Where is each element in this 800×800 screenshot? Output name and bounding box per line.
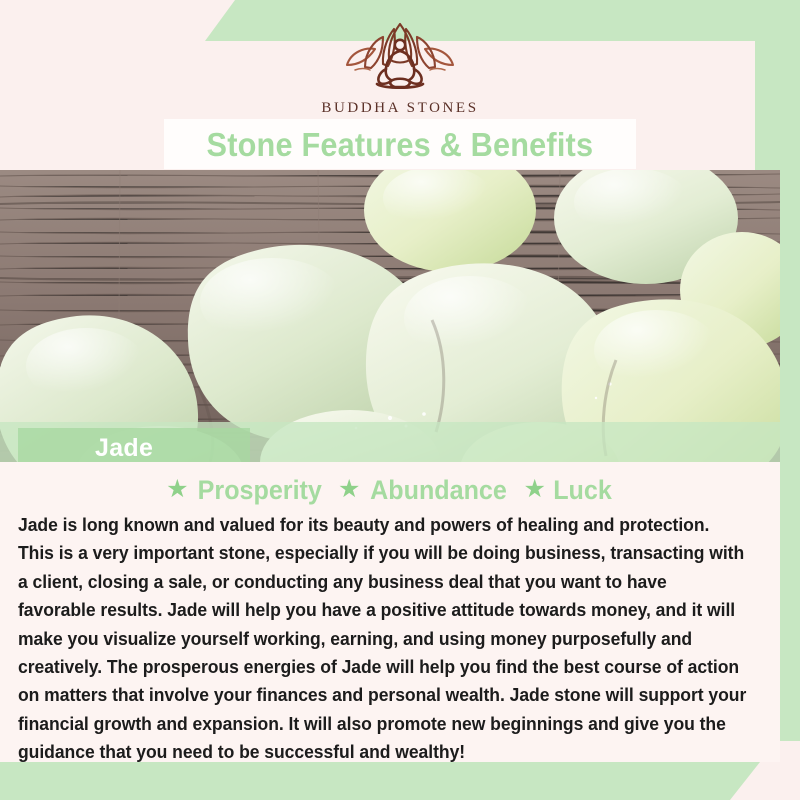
- stone-info-card: BUDDHA STONES Stone Features & Benefits: [0, 0, 800, 800]
- benefit-item-abundance: ★ Abundance: [338, 477, 512, 504]
- page-title: Stone Features & Benefits: [207, 128, 594, 161]
- decorative-ribbon-bottom: [0, 762, 760, 800]
- benefit-label: Abundance: [371, 477, 508, 504]
- stone-photo: [0, 170, 780, 462]
- content-panel: ★ Prosperity ★ Abundance ★ Luck Jade is …: [0, 462, 780, 762]
- star-icon: ★: [523, 477, 545, 502]
- lotus-meditation-figure-icon: [325, 18, 475, 96]
- star-icon: ★: [338, 477, 360, 502]
- brand-wordmark: BUDDHA STONES: [321, 101, 478, 116]
- stone-name-label: Jade: [95, 436, 153, 461]
- star-icon: ★: [166, 477, 188, 502]
- brand-logo-block: BUDDHA STONES: [0, 18, 800, 116]
- benefits-row: ★ Prosperity ★ Abundance ★ Luck: [0, 477, 780, 504]
- title-band: Stone Features & Benefits: [164, 119, 636, 169]
- benefit-item-luck: ★ Luck: [523, 477, 613, 504]
- stone-description: Jade is long known and valued for its be…: [18, 511, 749, 767]
- stone-photo-illustration: [0, 170, 780, 462]
- benefit-label: Luck: [553, 477, 612, 504]
- benefit-label: Prosperity: [198, 477, 322, 504]
- benefit-item-prosperity: ★ Prosperity: [166, 477, 327, 504]
